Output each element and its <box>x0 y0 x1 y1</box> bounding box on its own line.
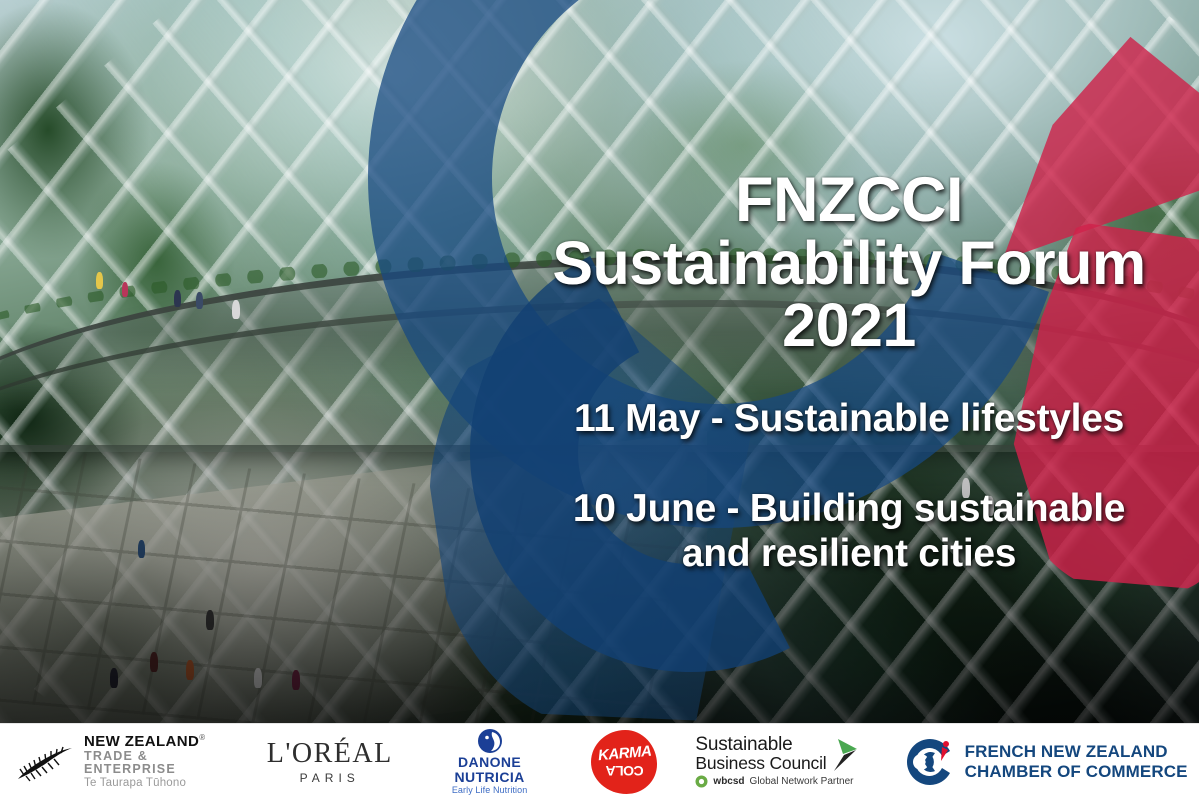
session-1-text: 11 May - Sustainable lifestyles <box>510 397 1188 441</box>
nzte-line-1: NEW ZEALAND® <box>84 734 240 750</box>
poster-copy: FNZCCI Sustainability Forum 2021 11 May … <box>510 168 1188 576</box>
loreal-subline: PARIS <box>300 771 360 785</box>
session-2-line-2: and resilient cities <box>510 532 1188 576</box>
nzte-wordmark: NEW ZEALAND® TRADE & ENTERPRISE Te Taura… <box>84 734 240 790</box>
sponsor-logo-bar: NEW ZEALAND® TRADE & ENTERPRISE Te Taura… <box>0 723 1199 799</box>
sbc-line-1: Sustainable <box>695 735 826 754</box>
wbcsd-label: wbcsd <box>713 776 744 787</box>
title-line-1: FNZCCI <box>510 168 1188 232</box>
danone-line-1: DANONE <box>458 755 521 769</box>
sessions-spacer <box>510 441 1188 487</box>
logo-karma-cola[interactable]: KARMA COLA <box>560 724 690 799</box>
logo-new-zealand-trade-and-enterprise[interactable]: NEW ZEALAND® TRADE & ENTERPRISE Te Taura… <box>0 724 240 799</box>
nzte-line-3: Te Taurapa Tūhono <box>84 777 240 789</box>
sessions-block: 11 May - Sustainable lifestyles 10 June … <box>510 397 1188 576</box>
sbc-wordmark: Sustainable Business Council <box>695 735 860 772</box>
karma-line-1: KARMA <box>597 742 652 764</box>
wbcsd-partner-line: wbcsd Global Network Partner <box>695 775 853 788</box>
danone-line-2: NUTRICIA <box>455 770 525 784</box>
session-2-line-1: 10 June - Building sustainable <box>510 487 1188 531</box>
logo-danone-nutricia[interactable]: DANONE NUTRICIA Early Life Nutrition <box>420 724 560 799</box>
cc-monogram-icon <box>905 737 955 787</box>
event-poster: FNZCCI Sustainability Forum 2021 11 May … <box>0 0 1199 799</box>
logo-french-new-zealand-chamber-of-commerce[interactable]: FRENCH NEW ZEALAND CHAMBER OF COMMERCE <box>899 724 1199 799</box>
karma-cola-blob-icon: KARMA COLA <box>591 730 657 794</box>
wbcsd-icon <box>695 775 708 788</box>
loreal-wordmark: L'ORÉAL <box>267 738 393 770</box>
global-network-partner-label: Global Network Partner <box>750 776 854 787</box>
fnzcci-wordmark: FRENCH NEW ZEALAND CHAMBER OF COMMERCE <box>965 742 1188 780</box>
danone-tagline: Early Life Nutrition <box>452 785 528 795</box>
title-line-2: Sustainability Forum <box>510 232 1188 294</box>
logo-sustainable-business-council[interactable]: Sustainable Business Council wbcsd Globa… <box>689 724 899 799</box>
danone-child-head-icon <box>477 728 503 754</box>
karma-line-2: COLA <box>606 763 644 779</box>
silver-fern-icon <box>14 742 76 782</box>
green-arrow-icon <box>830 738 860 772</box>
fnzcci-line-1: FRENCH NEW ZEALAND <box>965 742 1188 761</box>
page-title: FNZCCI Sustainability Forum 2021 <box>510 168 1188 357</box>
fnzcci-line-2: CHAMBER OF COMMERCE <box>965 762 1188 781</box>
title-line-3: 2021 <box>510 294 1188 356</box>
logo-loreal-paris[interactable]: L'ORÉAL PARIS <box>240 724 420 799</box>
sbc-line-2: Business Council <box>695 754 826 772</box>
registered-icon: ® <box>199 733 205 742</box>
nzte-line-2: TRADE & ENTERPRISE <box>84 750 240 777</box>
